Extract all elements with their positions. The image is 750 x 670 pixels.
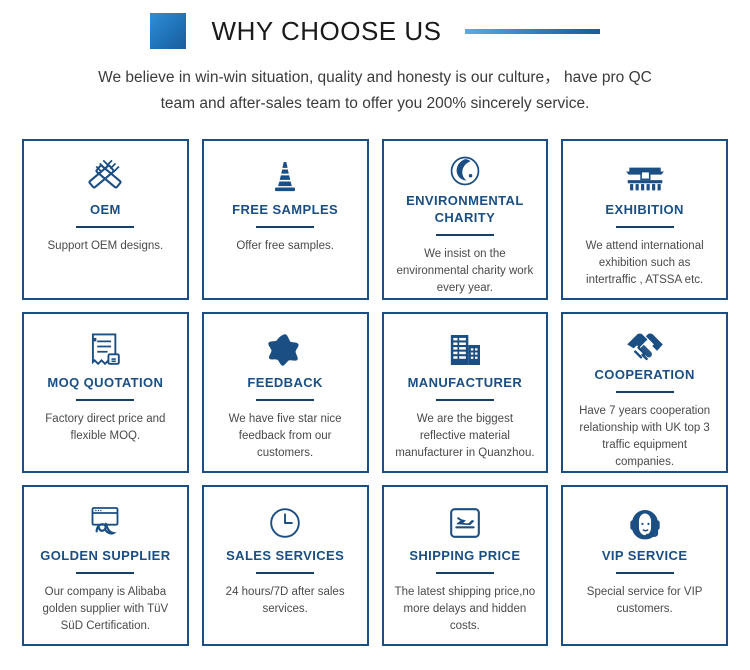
blue-rule-accent-icon [465, 29, 600, 34]
feature-card-description: Support OEM designs. [44, 238, 168, 255]
invoice-icon [86, 327, 124, 373]
handshake-icon [624, 327, 666, 365]
feature-card-oem[interactable]: OEM Support OEM designs. [22, 139, 189, 300]
feature-card-description: Offer free samples. [232, 238, 338, 255]
feature-card-manufacturer[interactable]: MANUFACTURER We are the biggest reflecti… [382, 312, 549, 473]
feature-card-feedback[interactable]: FEEDBACK We have five star nice feedback… [202, 312, 369, 473]
title-divider [256, 572, 314, 574]
airplane-shipping-icon [446, 500, 484, 546]
feature-card-title: SALES SERVICES [226, 547, 344, 564]
title-divider [76, 226, 134, 228]
feature-card-description: Factory direct price and flexible MOQ. [31, 411, 180, 445]
feature-card-free-samples[interactable]: FREE SAMPLES Offer free samples. [202, 139, 369, 300]
globe-leaf-icon [446, 151, 484, 191]
alibaba-browser-icon [85, 500, 125, 546]
exhibition-hall-icon [623, 154, 667, 200]
title-divider [616, 391, 674, 393]
feature-card-cooperation[interactable]: COOPERATION Have 7 years cooperation rel… [561, 312, 728, 473]
title-divider [616, 572, 674, 574]
clock-icon [266, 500, 304, 546]
feature-card-description: We have five star nice feedback from our… [211, 411, 360, 462]
features-grid: OEM Support OEM designs. FREE SAMPLES Of… [22, 139, 728, 646]
title-divider [436, 572, 494, 574]
feature-card-title: SHIPPING PRICE [409, 547, 520, 564]
section-header: WHY CHOOSE US [0, 0, 750, 49]
blue-square-accent-icon [150, 13, 186, 49]
page-title: WHY CHOOSE US [212, 16, 442, 47]
title-divider [436, 234, 494, 236]
title-divider [76, 572, 134, 574]
feature-card-description: We insist on the environmental charity w… [391, 246, 540, 297]
feature-card-exhibition[interactable]: EXHIBITION We attend international exhib… [561, 139, 728, 300]
feature-card-title: EXHIBITION [605, 201, 683, 218]
feature-card-environmental-charity[interactable]: ENVIRONMENTAL CHARITY We insist on the e… [382, 139, 549, 300]
subtitle-line-2: team and after-sales team to offer you 2… [45, 91, 705, 117]
feature-card-title: FEEDBACK [247, 374, 322, 391]
pencil-ruler-icon [84, 154, 126, 200]
feature-card-description: Special service for VIP customers. [570, 584, 719, 618]
star-icon [265, 327, 305, 373]
feature-card-vip-service[interactable]: VIP SERVICE Special service for VIP cust… [561, 485, 728, 646]
feature-card-title: MOQ QUOTATION [47, 374, 163, 391]
feature-card-title: COOPERATION [595, 366, 695, 383]
feature-card-description: The latest shipping price,no more delays… [391, 584, 540, 635]
feature-card-description: We attend international exhibition such … [570, 238, 719, 289]
feature-card-golden-supplier[interactable]: GOLDEN SUPPLIER Our company is Alibaba g… [22, 485, 189, 646]
title-divider [256, 399, 314, 401]
feature-card-title: FREE SAMPLES [232, 201, 338, 218]
feature-card-title: VIP SERVICE [602, 547, 688, 564]
feature-card-sales-services[interactable]: SALES SERVICES 24 hours/7D after sales s… [202, 485, 369, 646]
feature-card-moq-quotation[interactable]: MOQ QUOTATION Factory direct price and f… [22, 312, 189, 473]
feature-card-description: Have 7 years cooperation relationship wi… [570, 403, 719, 471]
feature-card-title: MANUFACTURER [408, 374, 523, 391]
feature-card-title: GOLDEN SUPPLIER [40, 547, 170, 564]
title-divider [436, 399, 494, 401]
title-divider [616, 226, 674, 228]
headset-support-icon [625, 500, 665, 546]
feature-card-shipping-price[interactable]: SHIPPING PRICE The latest shipping price… [382, 485, 549, 646]
subtitle-line-1: We believe in win-win situation, quality… [45, 65, 705, 91]
feature-card-description: We are the biggest reflective material m… [391, 411, 540, 462]
title-divider [256, 226, 314, 228]
title-divider [76, 399, 134, 401]
traffic-cone-icon [265, 154, 305, 200]
feature-card-title: OEM [90, 201, 121, 218]
feature-card-description: 24 hours/7D after sales services. [211, 584, 360, 618]
factory-building-icon [445, 327, 485, 373]
feature-card-title: ENVIRONMENTAL CHARITY [391, 192, 540, 226]
feature-card-description: Our company is Alibaba golden supplier w… [31, 584, 180, 635]
section-subtitle: We believe in win-win situation, quality… [45, 65, 705, 117]
